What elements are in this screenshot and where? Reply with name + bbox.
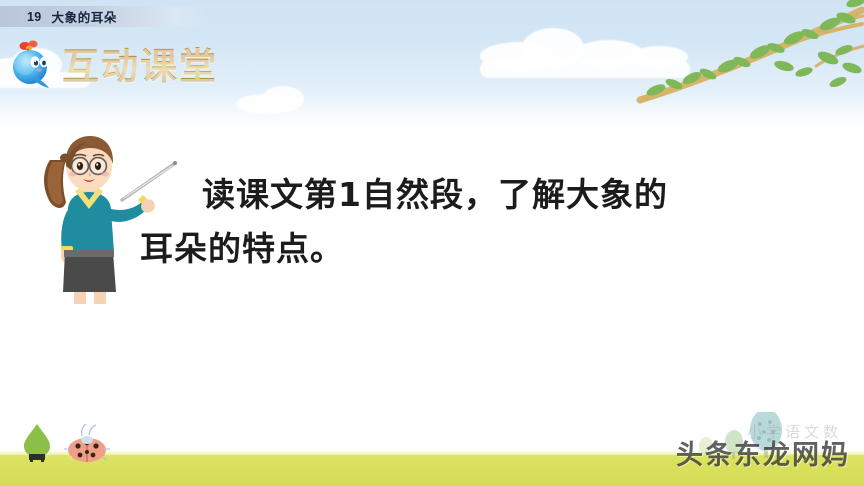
brand-block: 互动课堂 (8, 36, 218, 90)
lesson-body-text: 读课文第1自然段，了解大象的 耳朵的特点。 (140, 168, 800, 276)
lesson-number: 19 (27, 10, 42, 24)
lesson-body-line-1: 读课文第1自然段，了解大象的 (140, 168, 800, 222)
tree-icon (20, 422, 54, 462)
lesson-header-content: 19 大象的耳朵 (0, 6, 210, 27)
brand-title: 互动课堂 (62, 36, 218, 90)
lesson-title: 大象的耳朵 (52, 7, 118, 26)
q-mascot-icon (8, 37, 56, 89)
lesson-body-line-2: 耳朵的特点。 (140, 222, 800, 276)
slide-canvas: 19 大象的耳朵 (0, 0, 864, 486)
teacher-illustration (38, 126, 156, 304)
watermark-primary: 头条东龙网妈 (676, 433, 850, 472)
ladybug-icon (62, 424, 114, 462)
tree-branch-icon (634, 0, 864, 114)
